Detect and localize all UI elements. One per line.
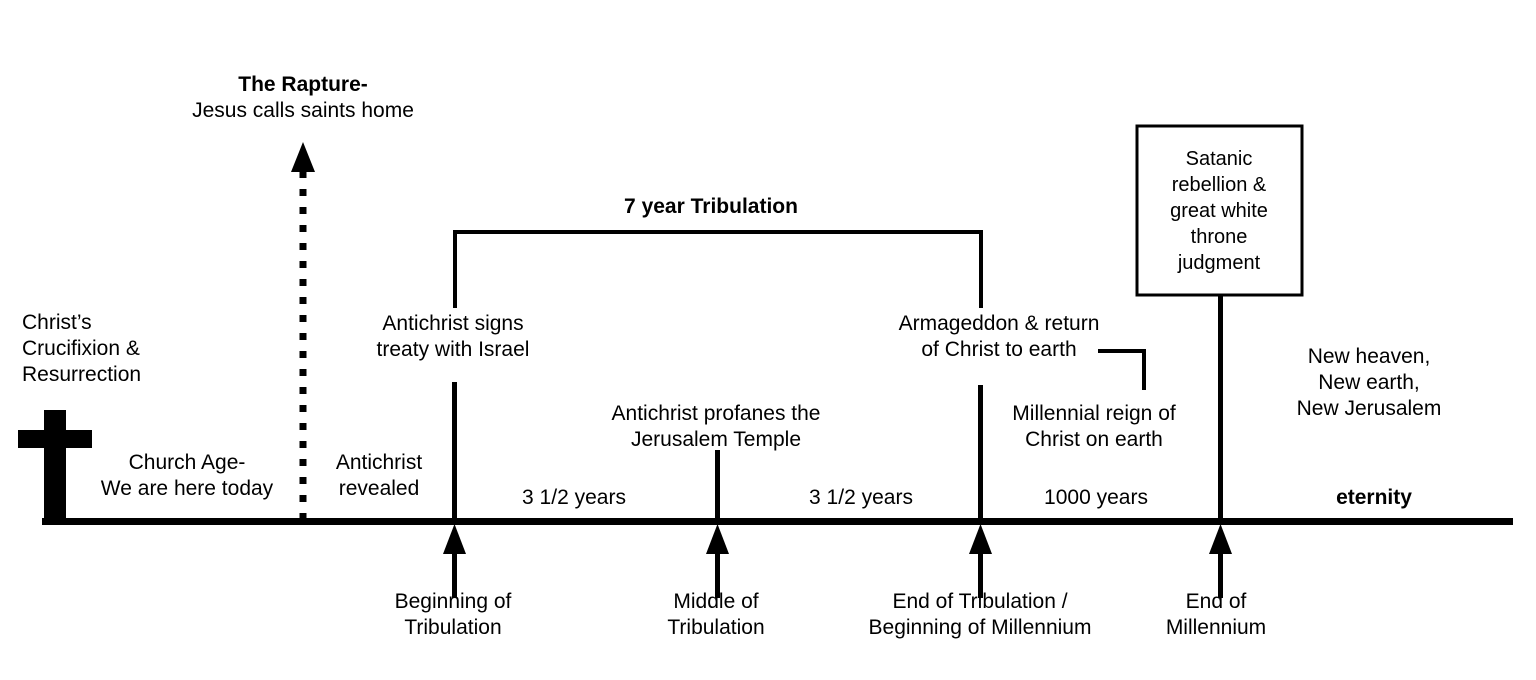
tick-beginning-of-tribulation	[443, 382, 466, 598]
marker-end-of-millennium: End of Millennium	[1166, 589, 1266, 641]
satanic-rebellion-label: Satanic rebellion & great white throne j…	[1139, 146, 1299, 276]
antichrist-treaty-label: Antichrist signs treaty with Israel	[377, 311, 530, 363]
segment-church-age: Church Age- We are here today	[101, 450, 273, 502]
eschatology-timeline-diagram: Christ’s Crucifixion & Resurrection The …	[0, 0, 1536, 680]
marker-end-of-tribulation: End of Tribulation / Beginning of Millen…	[869, 589, 1092, 641]
tribulation-bracket-label: 7 year Tribulation	[624, 194, 798, 220]
armageddon-label: Armageddon & return of Christ to earth	[899, 311, 1100, 363]
marker-beginning-of-tribulation: Beginning of Tribulation	[395, 589, 512, 641]
tick-end-of-tribulation	[969, 385, 992, 598]
cross-icon	[18, 410, 92, 522]
crucifixion-label: Christ’s Crucifixion & Resurrection	[22, 310, 141, 388]
tribulation-bracket	[453, 230, 983, 308]
rapture-subtitle: Jesus calls saints home	[192, 98, 414, 124]
segment-millennium: 1000 years	[1044, 485, 1148, 511]
main-timeline-axis	[42, 518, 1513, 525]
dotted-up-arrow-icon	[291, 142, 315, 520]
segment-first-half: 3 1/2 years	[522, 485, 626, 511]
segment-antichrist-revealed: Antichrist revealed	[336, 450, 422, 502]
millennial-reign-label: Millennial reign of Christ on earth	[1012, 401, 1175, 453]
antichrist-profanes-label: Antichrist profanes the Jerusalem Temple	[612, 401, 821, 453]
rapture-title: The Rapture-	[238, 72, 368, 98]
marker-middle-of-tribulation: Middle of Tribulation	[667, 589, 764, 641]
segment-eternity: eternity	[1336, 485, 1412, 511]
segment-second-half: 3 1/2 years	[809, 485, 913, 511]
millennial-reign-connector	[1098, 349, 1146, 390]
tick-end-of-millennium	[1209, 295, 1232, 598]
new-heaven-label: New heaven, New earth, New Jerusalem	[1297, 344, 1442, 422]
